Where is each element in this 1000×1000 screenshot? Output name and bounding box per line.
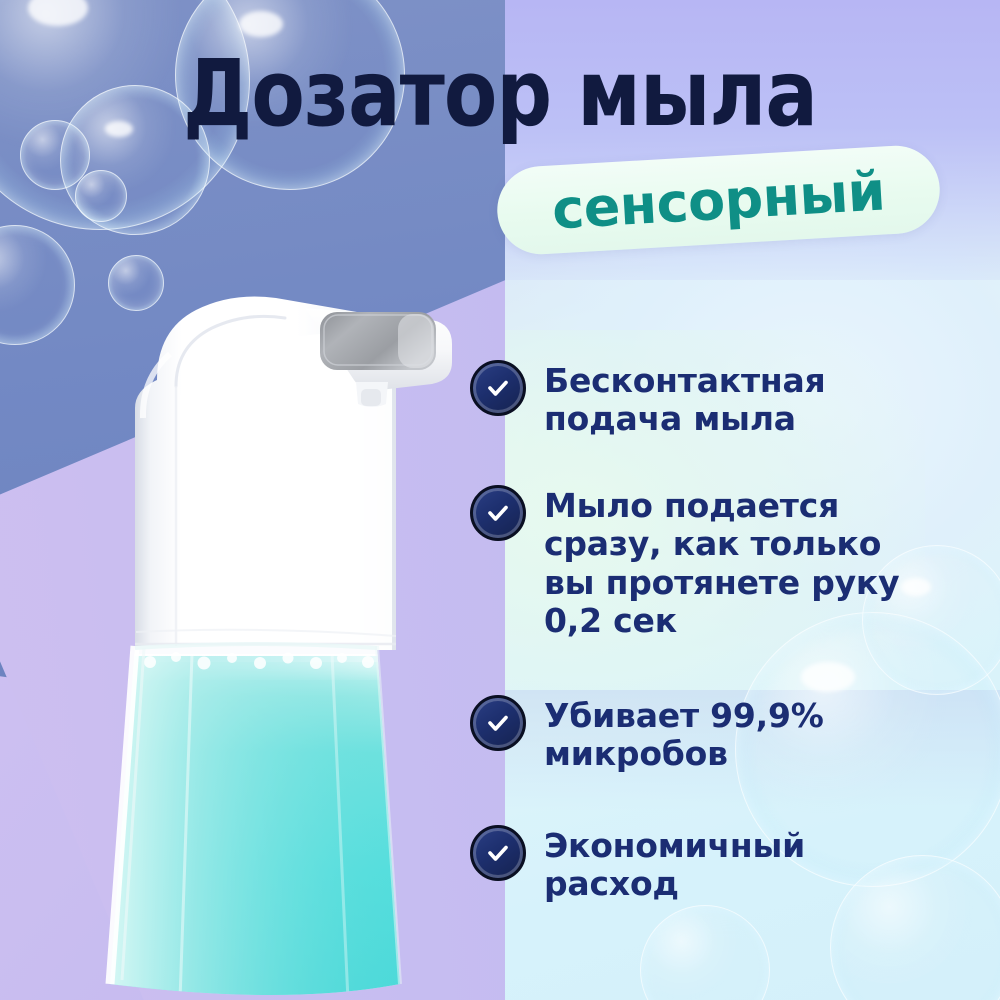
check-icon xyxy=(470,485,526,541)
check-icon xyxy=(470,360,526,416)
page-title: Дозатор мыла xyxy=(30,48,970,140)
list-item: Бесконтактная подача мыла xyxy=(470,360,826,439)
status-badge-label: сенсорный xyxy=(550,159,886,241)
list-item-label: Бесконтактная подача мыла xyxy=(544,360,826,439)
list-item-label: Мыло подается сразу, как только вы протя… xyxy=(544,485,899,640)
soap-dispenser-product xyxy=(80,258,480,1000)
list-item-label: Убивает 99,9% микробов xyxy=(544,695,824,774)
list-item: Экономичный расход xyxy=(470,825,805,904)
list-item: Мыло подается сразу, как только вы протя… xyxy=(470,485,899,640)
list-item: Убивает 99,9% микробов xyxy=(470,695,824,774)
check-icon xyxy=(470,825,526,881)
product-marketing-image: Дозатор мыла сенсорный Бесконтактная под… xyxy=(0,0,1000,1000)
list-item-label: Экономичный расход xyxy=(544,825,805,904)
check-icon xyxy=(470,695,526,751)
